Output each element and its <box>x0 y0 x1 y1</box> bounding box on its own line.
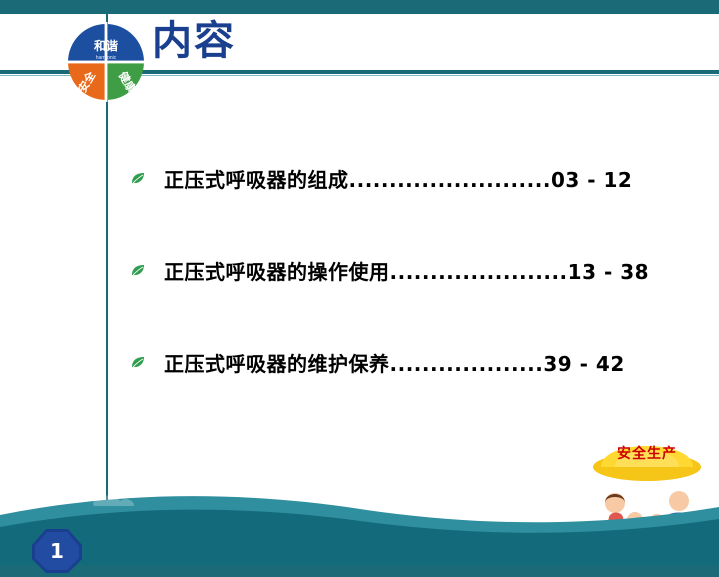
top-band <box>0 0 719 14</box>
logo-top-sub: harmonic <box>96 55 117 61</box>
harmony-safety-health-logo: 和谐 harmonic 安全 健康 <box>58 14 154 110</box>
list-item-label: 正压式呼吸器的组成.........................03 - 1… <box>164 164 632 193</box>
list-item[interactable]: 正压式呼吸器的维护保养...................39 - 42 <box>131 344 691 436</box>
leaf-bullet-icon <box>131 264 145 278</box>
table-of-contents: 正压式呼吸器的组成.........................03 - 1… <box>131 160 691 436</box>
list-item[interactable]: 正压式呼吸器的操作使用......................13 - 38 <box>131 252 691 344</box>
leaf-bullet-icon <box>131 356 145 370</box>
bottom-band <box>0 565 719 577</box>
logo-top-text: 和谐 <box>93 38 118 53</box>
list-item-label: 正压式呼吸器的维护保养...................39 - 42 <box>164 348 625 377</box>
page-number: 1 <box>30 527 84 575</box>
wave-graphic <box>0 475 719 565</box>
leaf-bullet-icon <box>131 172 145 186</box>
list-item-label: 正压式呼吸器的操作使用......................13 - 38 <box>164 256 649 285</box>
list-item[interactable]: 正压式呼吸器的组成.........................03 - 1… <box>131 160 691 252</box>
slide-canvas: 和谐 harmonic 安全 健康 内容 正压式呼吸器的组成..........… <box>0 0 719 577</box>
helmet-text: 安全生产 <box>579 443 715 463</box>
page-title: 内容 <box>152 16 236 66</box>
page-number-badge: 1 <box>30 527 84 575</box>
